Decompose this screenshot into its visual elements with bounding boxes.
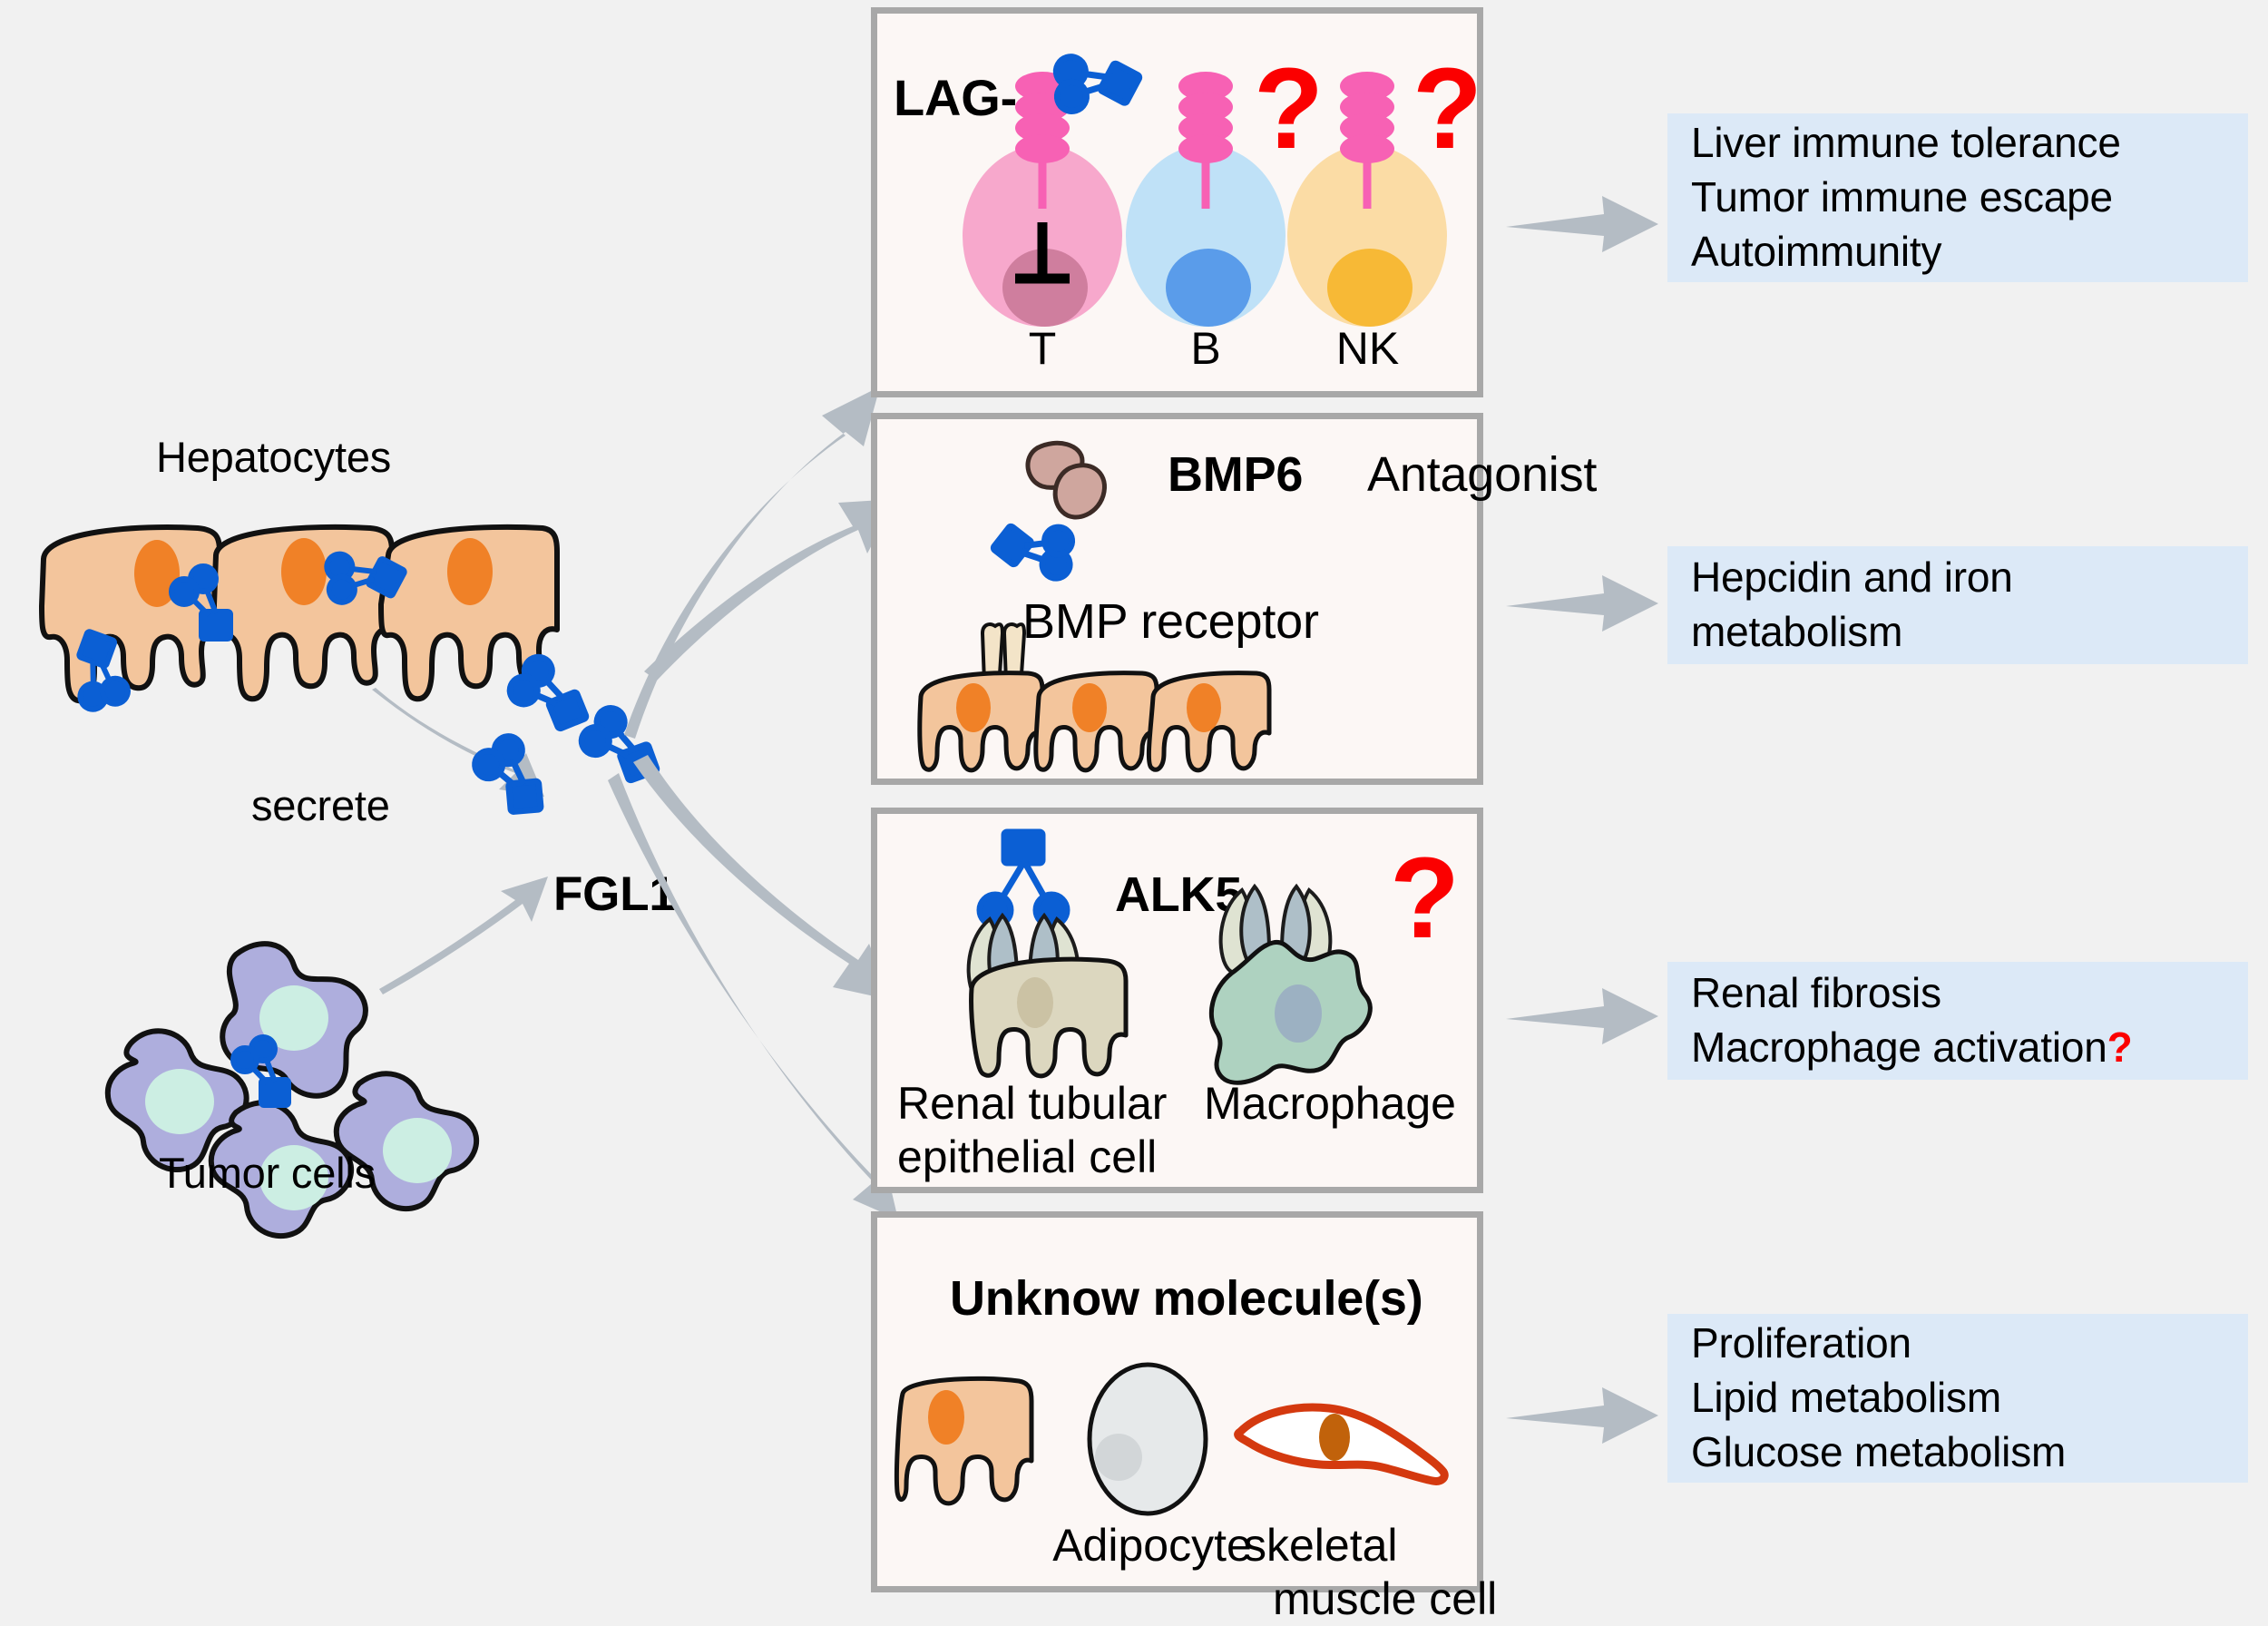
skeletal-muscle-cell xyxy=(1233,1399,1451,1499)
renal-label-line2: epithelial cell xyxy=(897,1131,1157,1182)
tumor-cells-label: Tumor cells xyxy=(159,1148,376,1198)
muscle-label-line1: skeletal xyxy=(1244,1520,1398,1571)
outcome-box-hepcidin: Hepcidin and iron metabolism xyxy=(1667,546,2248,664)
question-icon-renal: ? xyxy=(2107,1024,2133,1071)
panel-unknown-title: Unknow molecule(s) xyxy=(950,1270,1422,1327)
outcome-arrow-immune xyxy=(1506,192,1660,256)
panel-bmp6-title: BMP6 xyxy=(1168,446,1303,503)
lag3-receptor-icon xyxy=(1340,72,1394,163)
outcome-box-renal: Renal fibrosis Macrophage activation? xyxy=(1667,962,2248,1080)
adipocyte-label: Adipocyte xyxy=(1039,1519,1266,1572)
nk-cell-label: NK xyxy=(1311,322,1424,375)
outcome-line: Lipid metabolism xyxy=(1691,1371,2224,1425)
skeletal-muscle-cell-label: skeletal muscle cell xyxy=(1244,1519,1498,1626)
outcome-line: metabolism xyxy=(1691,605,2224,660)
panel-bmp6: BMP6 Antagonist BMP receptor xyxy=(871,413,1483,785)
outcome-line: Tumor immune escape xyxy=(1691,171,2224,225)
outcome-line: Liver immune tolerance xyxy=(1691,116,2224,171)
hepatocyte-cell-single xyxy=(890,1372,1044,1544)
outcome-line: Glucose metabolism xyxy=(1691,1425,2224,1480)
lag3-receptor-icon xyxy=(1178,72,1233,163)
bmp6-antagonist-label: Antagonist xyxy=(1367,446,1597,503)
macrophage-label: Macrophage xyxy=(1204,1077,1467,1130)
question-icon-macrophage: ? xyxy=(1390,841,1460,955)
panel-unknown: Unknow molecule(s) Adipocyte skeletal mu… xyxy=(871,1211,1483,1592)
outcome-box-metab: Proliferation Lipid metabolism Glucose m… xyxy=(1667,1314,2248,1483)
renal-tubular-epithelial-cell-label: Renal tubular epithelial cell xyxy=(897,1077,1197,1184)
outcome-line: Macrophage activation xyxy=(1691,1024,2107,1071)
outcome-arrow-renal xyxy=(1506,984,1660,1048)
panel-lag3: LAG-3 T ? B xyxy=(871,7,1483,397)
macrophage-cell xyxy=(1193,865,1411,1101)
b-cell-label: B xyxy=(1160,322,1251,375)
renal-tubular-epithelial-cell xyxy=(934,825,1160,1097)
hepatocytes-label: Hepatocytes xyxy=(156,432,391,482)
fgl1-molecule-icon xyxy=(980,832,1067,926)
fanout-arrows xyxy=(581,309,898,1397)
bmp-hepatocyte-sheet xyxy=(912,617,1275,780)
outcome-line: Autoimmunity xyxy=(1691,225,2224,279)
adipocyte-cell xyxy=(1075,1356,1220,1528)
outcome-box-immune: Liver immune tolerance Tumor immune esca… xyxy=(1667,113,2248,282)
outcome-arrow-hepcidin xyxy=(1506,572,1660,635)
question-icon-nk: ? xyxy=(1413,52,1482,166)
bmp6-complex-icon xyxy=(986,428,1149,564)
outcome-line: Hepcidin and iron xyxy=(1691,551,2224,605)
panel-alk5: ALK5 ? Renal tubular epithelial cell Mac… xyxy=(871,808,1483,1193)
outcome-line-with-question: Macrophage activation? xyxy=(1691,1021,2224,1075)
outcome-arrow-metab xyxy=(1506,1384,1660,1447)
outcome-line: Renal fibrosis xyxy=(1691,966,2224,1021)
t-cell-label: T xyxy=(997,322,1088,375)
t-cell xyxy=(952,41,1133,331)
outcome-line: Proliferation xyxy=(1691,1317,2224,1371)
renal-label-line1: Renal tubular xyxy=(897,1078,1167,1129)
